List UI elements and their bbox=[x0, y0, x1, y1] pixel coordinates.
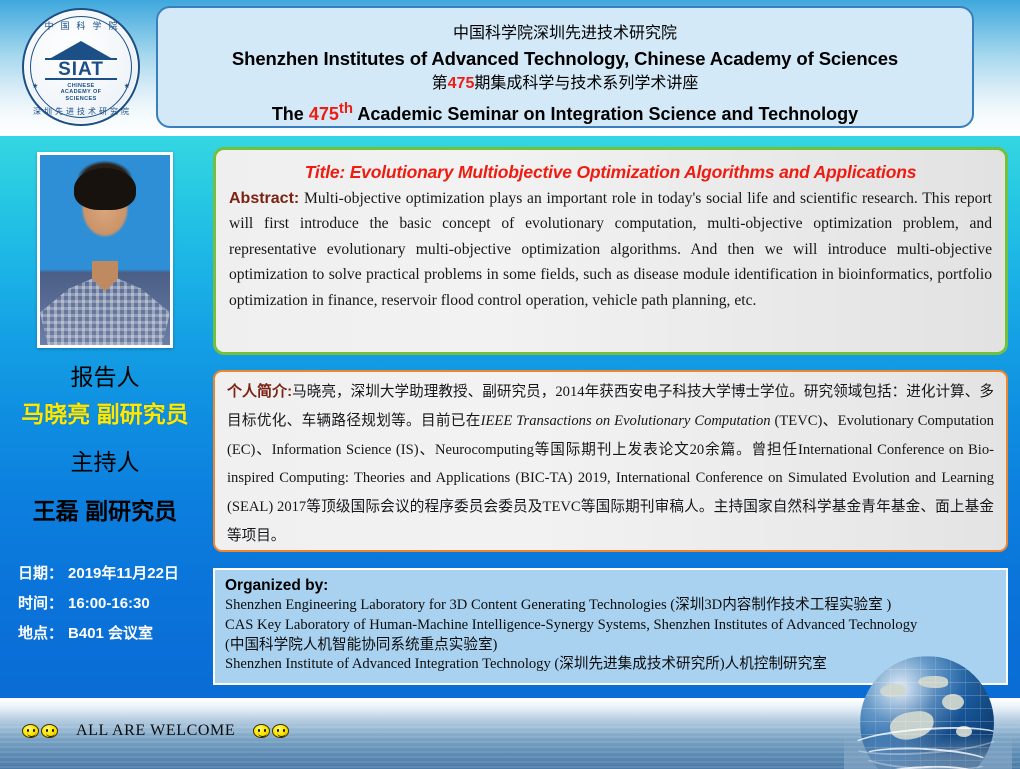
organized-by-card: Organized by: Shenzhen Engineering Labor… bbox=[213, 568, 1008, 685]
welcome-text: ALL ARE WELCOME bbox=[60, 722, 251, 740]
abstract-label: Abstract: bbox=[229, 190, 299, 207]
abstract-body-text: Multi-objective optimization plays an im… bbox=[229, 190, 992, 309]
abstract-text: Abstract: Multi-objective optimization p… bbox=[229, 186, 992, 313]
location-value: B401 会议室 bbox=[63, 625, 153, 642]
seminar-poster: 中国科学院 SIAT CHINESE ACADEMY OF SCIENCES ★… bbox=[0, 0, 1020, 769]
organizer-line: (中国科学院人机智能协同系统重点实验室) bbox=[225, 636, 996, 656]
organizer-line: Shenzhen Institute of Advanced Integrati… bbox=[225, 655, 996, 675]
location-label: 地点： bbox=[18, 625, 63, 642]
smiley-face-icon bbox=[253, 724, 270, 738]
logo-cas-text: CHINESE ACADEMY OF SCIENCES bbox=[22, 83, 140, 102]
poster-header: 中国科学院 SIAT CHINESE ACADEMY OF SCIENCES ★… bbox=[0, 0, 1020, 136]
biography-label: 个人简介: bbox=[227, 383, 292, 400]
speaker-label: 报告人 bbox=[0, 358, 210, 392]
talk-title: Title: Evolutionary Multiobjective Optim… bbox=[229, 159, 992, 185]
logo-pediment-icon bbox=[51, 41, 111, 58]
host-label: 主持人 bbox=[0, 443, 210, 477]
seminar-date: 日期：2019年11月22日 bbox=[18, 562, 179, 583]
organizer-line: CAS Key Laboratory of Human-Machine Inte… bbox=[225, 616, 996, 636]
time-value: 16:00-16:30 bbox=[63, 595, 150, 612]
header-institute-en: Shenzhen Institutes of Advanced Technolo… bbox=[158, 46, 972, 71]
header-seminar-number-en: 475 bbox=[309, 104, 339, 124]
speaker-photo bbox=[40, 155, 170, 345]
biography-text: 个人简介:马晓亮，深圳大学助理教授、副研究员，2014年获西安电子科技大学博士学… bbox=[227, 378, 994, 551]
poster-footer: ALL ARE WELCOME bbox=[0, 698, 1020, 769]
logo-chinese-bottom-text: 深圳先进技术研究院 bbox=[22, 106, 140, 117]
logo-acronym-text: SIAT bbox=[45, 58, 117, 80]
header-institute-cn: 中国科学院深圳先进技术研究院 bbox=[158, 21, 972, 46]
host-name: 王磊 副研究员 bbox=[0, 492, 210, 526]
date-label: 日期： bbox=[18, 565, 63, 582]
header-seminar-ordinal-suffix: th bbox=[339, 100, 353, 117]
abstract-card: Title: Evolutionary Multiobjective Optim… bbox=[213, 147, 1008, 355]
organizer-line: Shenzhen Engineering Laboratory for 3D C… bbox=[225, 596, 996, 616]
welcome-row: ALL ARE WELCOME bbox=[22, 722, 289, 740]
header-seminar-number-cn: 475 bbox=[448, 75, 475, 92]
time-label: 时间： bbox=[18, 595, 63, 612]
header-seminar-en-post: Academic Seminar on Integration Science … bbox=[353, 104, 858, 124]
header-seminar-cn: 第475期集成科学与技术系列学术讲座 bbox=[158, 71, 972, 96]
biography-card: 个人简介:马晓亮，深圳大学助理教授、副研究员，2014年获西安电子科技大学博士学… bbox=[213, 370, 1008, 552]
logo-cas-line3: SCIENCES bbox=[22, 96, 140, 102]
header-title-box: 中国科学院深圳先进技术研究院 Shenzhen Institutes of Ad… bbox=[156, 6, 974, 128]
organized-by-title: Organized by: bbox=[225, 576, 996, 596]
photo-hair-detail bbox=[74, 168, 136, 210]
header-seminar-en: The 475th Academic Seminar on Integratio… bbox=[158, 96, 972, 127]
seminar-time: 时间：16:00-16:30 bbox=[18, 592, 150, 613]
smiley-face-icon bbox=[41, 724, 58, 738]
logo-star-left-icon: ★ bbox=[32, 82, 38, 90]
header-seminar-cn-pre: 第 bbox=[432, 75, 448, 92]
header-seminar-cn-post: 期集成科学与技术系列学术讲座 bbox=[474, 75, 698, 92]
smiley-face-icon bbox=[22, 724, 39, 738]
siat-logo: 中国科学院 SIAT CHINESE ACADEMY OF SCIENCES ★… bbox=[22, 8, 140, 126]
biography-journal-italic: IEEE Transactions on Evolutionary Comput… bbox=[481, 413, 771, 429]
smiley-face-icon bbox=[272, 724, 289, 738]
logo-chinese-top-text: 中国科学院 bbox=[22, 19, 140, 32]
date-value: 2019年11月22日 bbox=[63, 565, 179, 582]
speaker-photo-frame bbox=[37, 152, 173, 348]
logo-star-right-icon: ★ bbox=[124, 82, 130, 90]
speaker-name: 马晓亮 副研究员 bbox=[0, 395, 210, 429]
biography-part2: (TEVC)、Evolutionary Computation (EC)、Inf… bbox=[227, 413, 994, 544]
seminar-location: 地点：B401 会议室 bbox=[18, 622, 153, 643]
header-seminar-en-pre: The bbox=[272, 104, 309, 124]
